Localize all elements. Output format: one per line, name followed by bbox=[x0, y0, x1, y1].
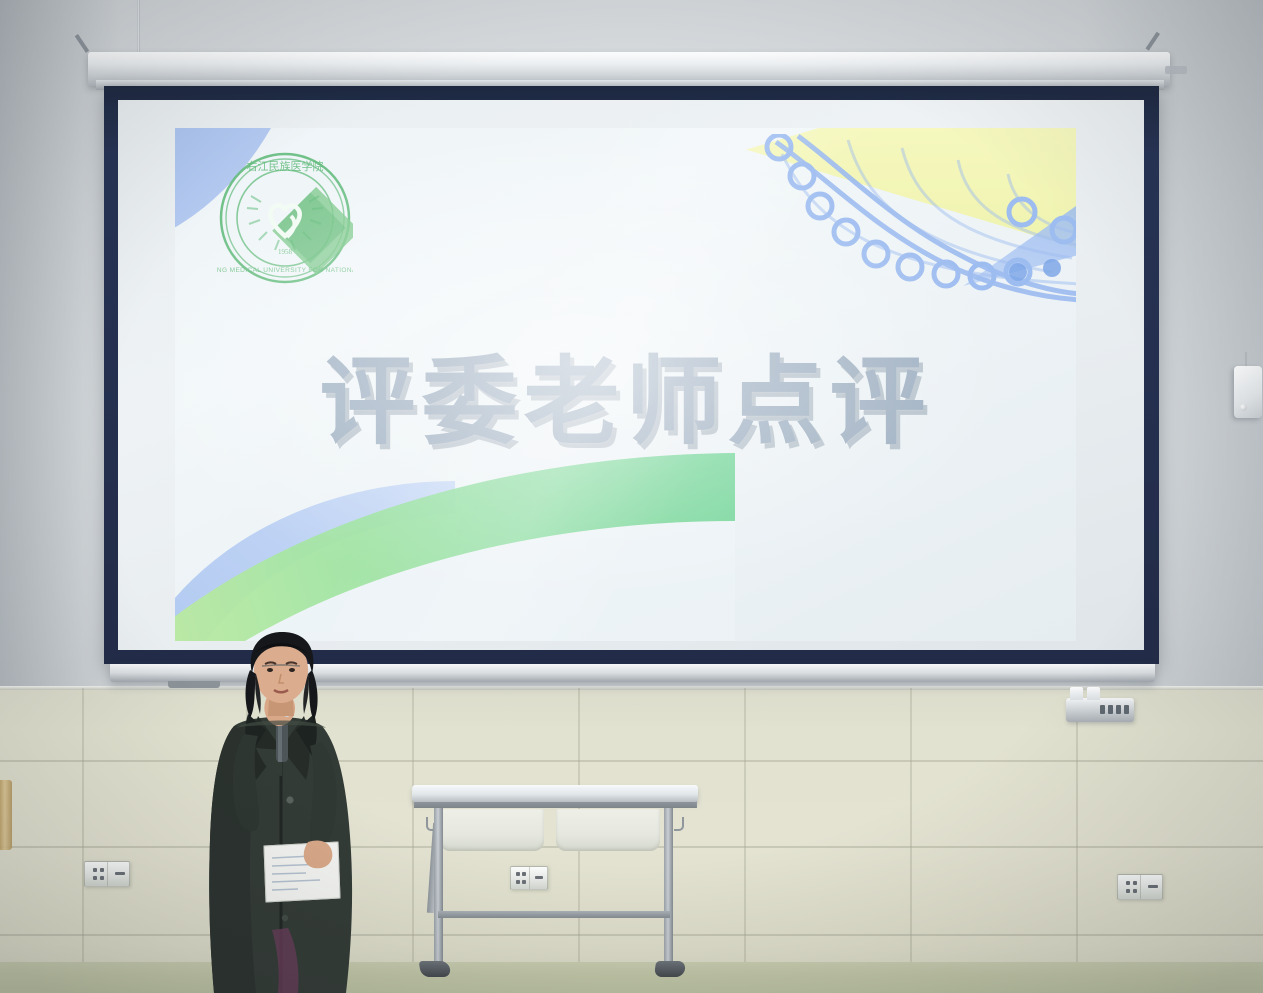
housing-badge bbox=[1165, 66, 1187, 74]
projected-slide: 右江民族医学院 YOUJIANG MEDICAL UNIVERSITY FOR … bbox=[175, 128, 1076, 641]
desk-cross-rail bbox=[438, 911, 670, 918]
power-plug bbox=[1070, 687, 1083, 700]
desk-foot bbox=[419, 961, 452, 977]
emblem-chinese-name: 右江民族医学院 bbox=[247, 159, 324, 173]
outlet-switch bbox=[108, 862, 130, 886]
wall-power-strip[interactable] bbox=[1066, 698, 1134, 722]
speaker-indicator-dot bbox=[1240, 404, 1247, 411]
desk-compartment bbox=[556, 809, 660, 851]
desk-hook bbox=[674, 817, 684, 831]
desk-leg bbox=[434, 807, 443, 967]
wall-mounted-speaker bbox=[1234, 366, 1262, 418]
desk-leg bbox=[664, 807, 673, 967]
tile-grout-line bbox=[910, 688, 912, 993]
classroom-desk bbox=[412, 785, 702, 993]
tile-grout-line bbox=[1076, 688, 1078, 993]
dna-helix-icon bbox=[752, 134, 1076, 324]
wooden-trim-edge bbox=[0, 780, 12, 850]
desk-top-surface bbox=[412, 785, 698, 802]
wall-outlet-right[interactable] bbox=[1117, 874, 1163, 900]
outlet-socket bbox=[85, 862, 108, 886]
wall-shadow-left bbox=[0, 0, 120, 700]
photo-scene: 右江民族医学院 YOUJIANG MEDICAL UNIVERSITY FOR … bbox=[0, 0, 1263, 993]
tile-grout-line bbox=[82, 688, 84, 993]
power-sockets bbox=[1100, 705, 1129, 714]
emblem-english-name: YOUJIANG MEDICAL UNIVERSITY FOR NATIONAL… bbox=[217, 267, 353, 274]
desk-compartment bbox=[440, 809, 544, 851]
university-emblem: 右江民族医学院 YOUJIANG MEDICAL UNIVERSITY FOR … bbox=[217, 150, 353, 286]
emblem-year: 1958 bbox=[278, 248, 293, 256]
outlet-socket bbox=[1118, 875, 1141, 899]
desk-foot bbox=[654, 961, 686, 977]
speaker-with-microphone bbox=[186, 630, 376, 993]
slide-title: 评委老师点评 bbox=[175, 324, 1076, 463]
power-plug bbox=[1087, 687, 1100, 700]
tile-grout-line bbox=[744, 688, 746, 993]
wall-outlet-left[interactable] bbox=[84, 861, 130, 887]
outlet-switch bbox=[1141, 875, 1163, 899]
